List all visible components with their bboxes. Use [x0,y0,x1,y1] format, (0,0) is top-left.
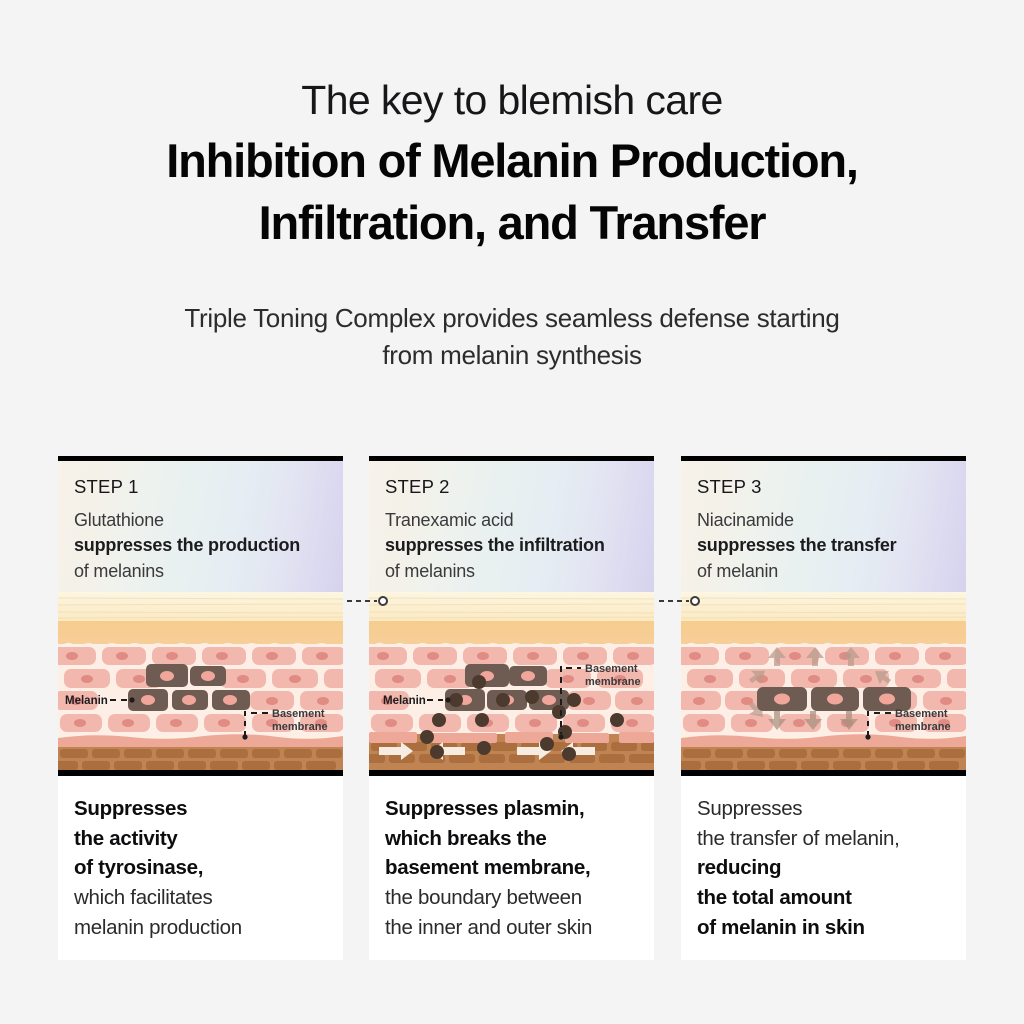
step-action-bold: suppresses the infiltration [385,533,654,559]
caption-line: the total amount [697,886,852,909]
step-action-bold: suppresses the transfer [697,533,966,559]
melanin-label-text: Melanin [65,695,108,707]
svg-text:Basement: Basement [585,663,638,675]
header-block: The key to blemish care Inhibition of Me… [0,78,1024,254]
step-action-bold: suppresses the production [74,533,343,559]
step-connector-1 [345,594,391,608]
step-card-3[interactable]: STEP 3 Niacinamide suppresses the transf… [681,456,966,960]
caption-line: Suppresses plasmin, [385,797,584,820]
step-card-1[interactable]: STEP 1 Glutathione suppresses the produc… [58,456,343,960]
title-line-2: Infiltration, and Transfer [259,196,766,249]
step-header-1: STEP 1 Glutathione suppresses the produc… [58,461,343,592]
skin-diagram-2: Melanin Basement membrane [369,592,654,770]
steps-row: STEP 1 Glutathione suppresses the produc… [58,456,966,960]
skin-diagram-3: Basement membrane [681,592,966,770]
svg-text:membrane: membrane [272,721,328,733]
subtitle-line-2: from melanin synthesis [382,340,641,370]
step-action-tail: of melanin [697,559,966,585]
step-number-label: STEP 3 [697,478,966,497]
page-title: Inhibition of Melanin Production, Infilt… [0,130,1024,254]
step-caption-2: Suppresses plasmin, which breaks the bas… [369,776,654,943]
step-ingredient: Tranexamic acid [385,508,654,534]
svg-text:Melanin: Melanin [383,695,426,707]
step-card-2[interactable]: STEP 2 Tranexamic acid suppresses the in… [369,456,654,960]
caption-line: the activity [74,827,178,850]
step-connector-2 [657,594,703,608]
eyebrow-text: The key to blemish care [0,78,1024,122]
caption-line: Suppresses [74,797,187,820]
title-line-1: Inhibition of Melanin Production, [166,134,857,187]
caption-line: reducing [697,856,781,879]
caption-line: which breaks the [385,827,547,850]
infographic-page: The key to blemish care Inhibition of Me… [0,0,1024,1024]
caption-line: Suppresses [697,797,802,820]
caption-line: melanin production [74,916,242,939]
svg-text:membrane: membrane [585,676,641,688]
subtitle-line-1: Triple Toning Complex provides seamless … [184,303,839,333]
subtitle: Triple Toning Complex provides seamless … [0,300,1024,374]
connector-endpoint-circle [379,597,387,605]
svg-text:Basement: Basement [895,708,948,720]
step-header-2: STEP 2 Tranexamic acid suppresses the in… [369,461,654,592]
caption-line: basement membrane, [385,856,590,879]
skin-diagram-1: Melanin Basement membrane [58,592,343,770]
connector-endpoint-circle [691,597,699,605]
step-ingredient: Glutathione [74,508,343,534]
svg-text:membrane: membrane [895,721,951,733]
step-header-3: STEP 3 Niacinamide suppresses the transf… [681,461,966,592]
step-action-tail: of melanins [385,559,654,585]
step-caption-3: Suppresses the transfer of melanin, redu… [681,776,966,943]
step-ingredient: Niacinamide [697,508,966,534]
svg-text:Basement: Basement [272,708,325,720]
caption-line: of tyrosinase, [74,856,203,879]
step-number-label: STEP 2 [385,478,654,497]
step-action-tail: of melanins [74,559,343,585]
step-number-label: STEP 1 [74,478,343,497]
step-caption-1: Suppresses the activity of tyrosinase, w… [58,776,343,943]
caption-line: the boundary between [385,886,582,909]
caption-line: the transfer of melanin, [697,827,899,850]
caption-line: the inner and outer skin [385,916,592,939]
caption-line: which facilitates [74,886,212,909]
caption-line: of melanin in skin [697,916,865,939]
